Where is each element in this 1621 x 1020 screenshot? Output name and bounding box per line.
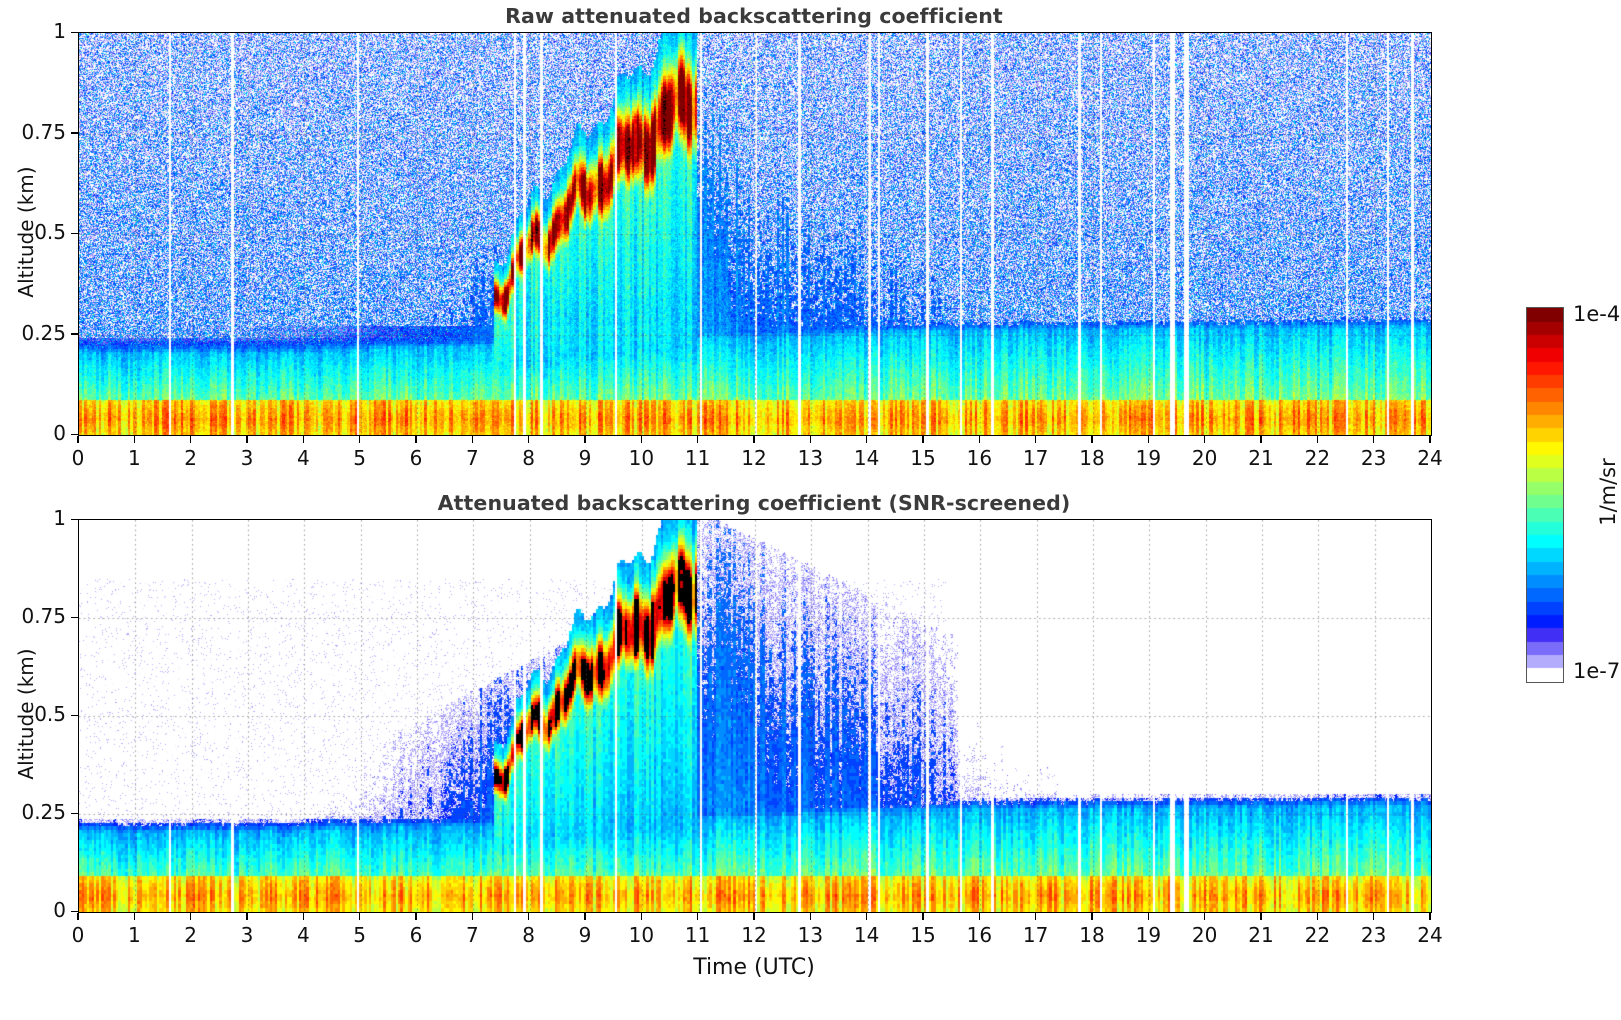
y-tick-mark	[71, 132, 78, 134]
x-tick-label: 20	[1175, 446, 1235, 470]
heatmap-canvas-raw	[79, 33, 1431, 435]
x-tick-mark	[697, 436, 699, 443]
x-tick-label: 11	[668, 446, 728, 470]
x-tick-label: 12	[724, 446, 784, 470]
x-tick-label: 4	[273, 923, 333, 947]
x-tick-mark	[1317, 913, 1319, 920]
x-tick-label: 20	[1175, 923, 1235, 947]
x-tick-label: 16	[949, 923, 1009, 947]
x-tick-label: 14	[837, 923, 897, 947]
colorbar-tick-max: 1e-4	[1573, 302, 1620, 326]
x-tick-label: 7	[442, 923, 502, 947]
x-tick-label: 7	[442, 446, 502, 470]
x-tick-label: 0	[48, 923, 108, 947]
x-tick-label: 6	[386, 446, 446, 470]
x-tick-mark	[810, 913, 812, 920]
x-tick-label: 21	[1231, 446, 1291, 470]
x-tick-label: 13	[780, 923, 840, 947]
x-tick-mark	[1148, 913, 1150, 920]
x-tick-mark	[303, 913, 305, 920]
colorbar-tick-min: 1e-7	[1573, 659, 1620, 683]
x-tick-label: 21	[1231, 923, 1291, 947]
x-tick-mark	[472, 913, 474, 920]
x-tick-mark	[810, 436, 812, 443]
x-tick-mark	[472, 436, 474, 443]
x-tick-mark	[922, 913, 924, 920]
y-tick-mark	[71, 333, 78, 335]
x-tick-label: 15	[893, 446, 953, 470]
x-tick-mark	[1260, 436, 1262, 443]
x-tick-label: 24	[1400, 446, 1460, 470]
x-tick-mark	[1204, 913, 1206, 920]
x-tick-label: 2	[161, 923, 221, 947]
x-tick-mark	[1429, 913, 1431, 920]
x-tick-mark	[753, 436, 755, 443]
x-tick-mark	[1035, 436, 1037, 443]
x-tick-label: 18	[1062, 923, 1122, 947]
x-tick-mark	[359, 436, 361, 443]
x-tick-label: 19	[1118, 446, 1178, 470]
x-tick-label: 8	[499, 446, 559, 470]
y-tick-label: 0.5	[0, 702, 66, 726]
x-tick-mark	[1148, 436, 1150, 443]
x-tick-mark	[979, 436, 981, 443]
x-tick-mark	[1260, 913, 1262, 920]
x-tick-mark	[77, 913, 79, 920]
x-tick-mark	[1091, 436, 1093, 443]
x-tick-label: 10	[611, 446, 671, 470]
x-tick-label: 11	[668, 923, 728, 947]
x-tick-label: 16	[949, 446, 1009, 470]
x-tick-mark	[190, 436, 192, 443]
y-tick-mark	[71, 813, 78, 815]
y-tick-label: 0.5	[0, 220, 66, 244]
x-tick-label: 1	[104, 446, 164, 470]
x-tick-mark	[1035, 913, 1037, 920]
x-tick-label: 0	[48, 446, 108, 470]
x-tick-mark	[866, 913, 868, 920]
y-tick-label: 0.25	[0, 800, 66, 824]
x-tick-mark	[528, 436, 530, 443]
x-tick-mark	[1317, 436, 1319, 443]
x-tick-mark	[584, 436, 586, 443]
x-tick-label: 8	[499, 923, 559, 947]
plot-area-raw	[78, 32, 1432, 436]
y-tick-label: 0	[0, 421, 66, 445]
panel-title-screened: Attenuated backscattering coefficient (S…	[78, 491, 1430, 515]
x-tick-mark	[303, 436, 305, 443]
y-tick-mark	[71, 519, 78, 521]
x-tick-label: 6	[386, 923, 446, 947]
x-tick-mark	[1204, 436, 1206, 443]
x-tick-mark	[77, 436, 79, 443]
x-tick-label: 9	[555, 923, 615, 947]
y-tick-mark	[71, 617, 78, 619]
x-tick-label: 13	[780, 446, 840, 470]
heatmap-canvas-screened	[79, 520, 1431, 912]
colorbar-axis-label: 1/m/sr	[1596, 392, 1620, 592]
panel-title-raw: Raw attenuated backscattering coefficien…	[78, 4, 1430, 28]
x-tick-mark	[584, 913, 586, 920]
x-tick-label: 18	[1062, 446, 1122, 470]
x-tick-mark	[246, 913, 248, 920]
x-tick-label: 1	[104, 923, 164, 947]
x-tick-label: 23	[1344, 446, 1404, 470]
x-tick-mark	[415, 436, 417, 443]
figure-root: Raw attenuated backscattering coefficien…	[0, 0, 1621, 1020]
x-tick-mark	[134, 436, 136, 443]
x-axis-label: Time (UTC)	[78, 955, 1430, 980]
x-tick-mark	[1429, 436, 1431, 443]
x-tick-mark	[1373, 436, 1375, 443]
x-tick-mark	[359, 913, 361, 920]
x-tick-mark	[979, 913, 981, 920]
x-tick-label: 22	[1287, 446, 1347, 470]
plot-area-screened	[78, 519, 1432, 913]
y-tick-label: 0.75	[0, 120, 66, 144]
x-tick-label: 3	[217, 923, 277, 947]
y-tick-label: 0	[0, 898, 66, 922]
colorbar-canvas	[1527, 308, 1563, 682]
x-tick-mark	[190, 913, 192, 920]
y-tick-label: 1	[0, 506, 66, 530]
y-tick-mark	[71, 233, 78, 235]
x-tick-label: 3	[217, 446, 277, 470]
x-tick-label: 15	[893, 923, 953, 947]
y-tick-mark	[71, 32, 78, 34]
x-tick-label: 5	[330, 446, 390, 470]
x-tick-label: 9	[555, 446, 615, 470]
x-tick-mark	[641, 436, 643, 443]
x-tick-label: 2	[161, 446, 221, 470]
x-tick-label: 23	[1344, 923, 1404, 947]
x-tick-mark	[1373, 913, 1375, 920]
x-tick-mark	[246, 436, 248, 443]
x-tick-label: 17	[1006, 446, 1066, 470]
x-tick-mark	[528, 913, 530, 920]
x-tick-mark	[1091, 913, 1093, 920]
x-tick-label: 14	[837, 446, 897, 470]
x-tick-mark	[415, 913, 417, 920]
x-tick-label: 4	[273, 446, 333, 470]
x-tick-mark	[753, 913, 755, 920]
x-tick-label: 24	[1400, 923, 1460, 947]
x-tick-label: 12	[724, 923, 784, 947]
x-tick-mark	[922, 436, 924, 443]
y-tick-label: 0.25	[0, 321, 66, 345]
x-tick-mark	[641, 913, 643, 920]
colorbar-gradient	[1526, 307, 1564, 683]
x-tick-mark	[866, 436, 868, 443]
x-tick-mark	[134, 913, 136, 920]
y-tick-mark	[71, 715, 78, 717]
y-tick-label: 1	[0, 19, 66, 43]
x-tick-label: 17	[1006, 923, 1066, 947]
x-tick-label: 19	[1118, 923, 1178, 947]
y-tick-label: 0.75	[0, 604, 66, 628]
x-tick-label: 5	[330, 923, 390, 947]
x-tick-mark	[697, 913, 699, 920]
x-tick-label: 10	[611, 923, 671, 947]
x-tick-label: 22	[1287, 923, 1347, 947]
